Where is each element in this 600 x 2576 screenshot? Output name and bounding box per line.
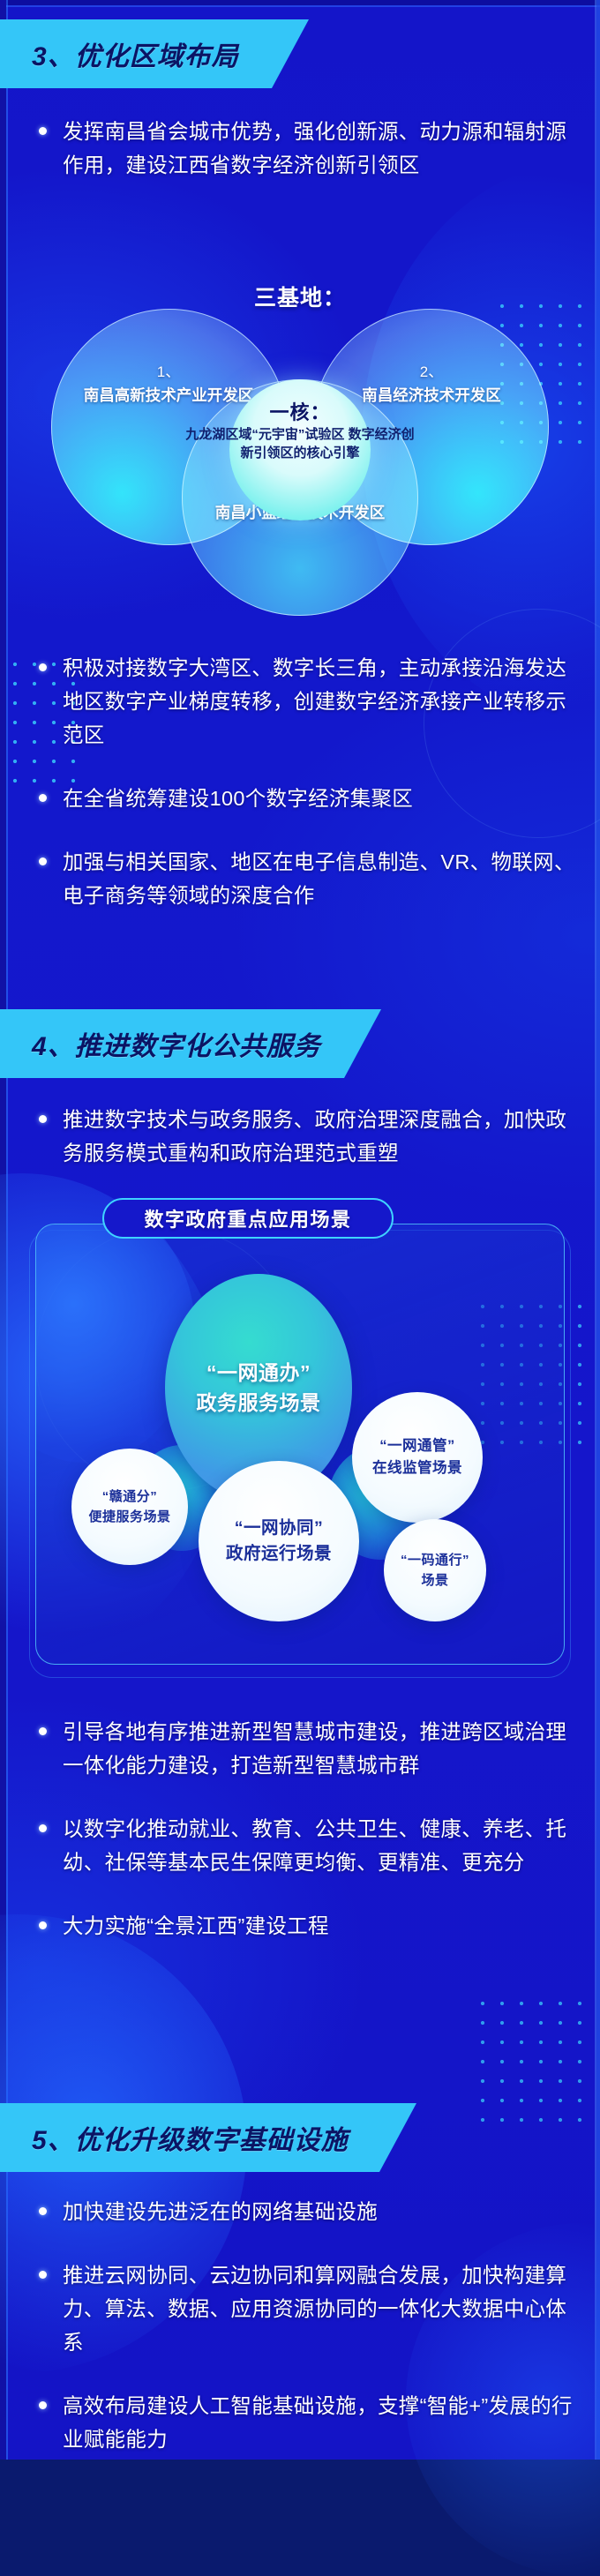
bullet-text: 推进云网协同、云边协同和算网融合发展，加快构建算力、算法、数据、应用资源协同的一… [63,2258,577,2359]
bullet-text: 发挥南昌省会城市优势，强化创新源、动力源和辐射源作用，建设江西省数字经济创新引领… [63,115,577,182]
bubble-mid-line2: 政府运行场景 [226,1544,332,1563]
bullet-text: 积极对接数字大湾区、数字长三角，主动承接沿海发达地区数字产业梯度转移，创建数字经… [63,651,577,752]
bubble-main-line1: “一网通办” [206,1361,311,1384]
bullet-dot-icon [39,2271,47,2279]
section-5-banner-label: 5、优化升级数字基础设施 [0,2118,349,2157]
section-4-bullets-before: 推进数字技术与政务服务、政府治理深度融合，加快政务服务模式重构和政府治理范式重塑 [23,1103,577,1193]
section-3-banner-label: 3、优化区域布局 [0,34,239,73]
bullet-dot-icon [39,1727,47,1735]
venn-diagram-three-bases: 三基地： 1、 南昌高新技术产业开发区 2、 南昌经济技术开发区 3、 南昌小蓝… [21,265,579,618]
bullet-text: 大力实施“全景江西”建设工程 [63,1909,329,1943]
bullet-text: 加强与相关国家、地区在电子信息制造、VR、物联网、电子商务等领域的深度合作 [63,845,577,912]
bubble-one-network-supervision: “一网通管” 在线监管场景 [352,1392,483,1523]
digital-government-scenarios-diagram: “一网通办” 政务服务场景 “一网通管” 在线监管场景 “赣通分” 便捷服务场景 [35,1224,565,1665]
list-item: 积极对接数字大湾区、数字长三角，主动承接沿海发达地区数字产业梯度转移，创建数字经… [23,651,577,752]
section-3-bullets-before: 发挥南昌省会城市优势，强化创新源、动力源和辐射源作用，建设江西省数字经济创新引领… [23,115,577,205]
section-4-banner-label: 4、推进数字化公共服务 [0,1024,321,1063]
list-item: 加强与相关国家、地区在电子信息制造、VR、物联网、电子商务等领域的深度合作 [23,845,577,912]
list-item: 发挥南昌省会城市优势，强化创新源、动力源和辐射源作用，建设江西省数字经济创新引领… [23,115,577,182]
venn-label-2-number: 2、 [330,362,533,383]
section-4-bullets-after: 引导各地有序推进新型智慧城市建设，推进跨区域治理一体化能力建设，打造新型智慧城市… [23,1715,577,1966]
bubble-mid-line1: “一网协同” [235,1518,324,1538]
bubble-one-code-pass: “一码通行” 场景 [384,1519,486,1621]
list-item: 在全省统筹建设100个数字经济集聚区 [23,782,577,815]
venn-title: 三基地： [21,281,579,312]
section-4-banner: 4、推进数字化公共服务 [0,1009,381,1078]
bullet-dot-icon [39,127,47,135]
list-item: 加快建设先进泛在的网络基础设施 [23,2195,577,2228]
list-item: 以数字化推动就业、教育、公共卫生、健康、养老、托幼、社保等基本民生保障更均衡、更… [23,1812,577,1879]
bubble-left-line2: 便捷服务场景 [88,1509,170,1524]
bullet-dot-icon [39,857,47,865]
bullet-dot-icon [39,2207,47,2215]
bubble-gantongfen-service: “赣通分” 便捷服务场景 [71,1449,188,1565]
venn-label-1-text: 南昌高新技术产业开发区 [84,386,254,404]
bullet-text: 高效布局建设人工智能基础设施，支撑“智能+”发展的行业赋能能力 [63,2389,577,2456]
bubble-br-line2: 场景 [421,1573,448,1588]
scene-title-pill: 数字政府重点应用场景 [102,1198,394,1239]
infographic-page: 3、优化区域布局 发挥南昌省会城市优势，强化创新源、动力源和辐射源作用，建设江西… [0,0,600,2460]
bubble-left-label: “赣通分” 便捷服务场景 [88,1486,170,1527]
bullet-dot-icon [39,1824,47,1832]
venn-label-2-text: 南昌经济技术开发区 [362,386,501,404]
bullet-dot-icon [39,794,47,802]
bullet-dot-icon [39,2401,47,2409]
left-accent-line [6,0,8,2460]
bubble-tr-line1: “一网通管” [379,1438,455,1454]
bullet-text: 推进数字技术与政务服务、政府治理深度融合，加快政务服务模式重构和政府治理范式重塑 [63,1103,577,1170]
dot-pattern-right-lower [473,1994,596,2126]
bullet-text: 引导各地有序推进新型智慧城市建设，推进跨区域治理一体化能力建设，打造新型智慧城市… [63,1715,577,1782]
section-3-bullets-after: 积极对接数字大湾区、数字长三角，主动承接沿海发达地区数字产业梯度转移，创建数字经… [23,651,577,935]
scene-title-label: 数字政府重点应用场景 [144,1204,351,1232]
bullet-text: 加快建设先进泛在的网络基础设施 [63,2195,378,2228]
bullet-text: 以数字化推动就业、教育、公共卫生、健康、养老、托幼、社保等基本民生保障更均衡、更… [63,1812,577,1879]
list-item: 引导各地有序推进新型智慧城市建设，推进跨区域治理一体化能力建设，打造新型智慧城市… [23,1715,577,1782]
left-border [0,0,6,2460]
section-5-banner: 5、优化升级数字基础设施 [0,2103,416,2172]
venn-label-1-number: 1、 [67,362,270,383]
bubble-tr-label: “一网通管” 在线监管场景 [372,1435,462,1479]
venn-core-heading: 一核： [229,397,371,425]
bubble-left-line1: “赣通分” [102,1489,158,1504]
bubble-mid-label: “一网协同” 政府运行场景 [226,1516,332,1567]
list-item: 推进云网协同、云边协同和算网融合发展，加快构建算力、算法、数据、应用资源协同的一… [23,2258,577,2359]
bubble-main-line2: 政务服务场景 [197,1391,321,1414]
bullet-dot-icon [39,663,47,671]
bubble-one-network-collaboration: “一网协同” 政府运行场景 [199,1461,359,1621]
list-item: 大力实施“全景江西”建设工程 [23,1909,577,1943]
section-3-banner: 3、优化区域布局 [0,19,309,88]
top-accent-line [0,5,600,7]
list-item: 高效布局建设人工智能基础设施，支撑“智能+”发展的行业赋能能力 [23,2389,577,2456]
bubble-tr-line2: 在线监管场景 [372,1460,462,1476]
bullet-text: 在全省统筹建设100个数字经济集聚区 [63,782,413,815]
bullet-dot-icon [39,1115,47,1123]
bubble-main-label: “一网通办” 政务服务场景 [197,1358,321,1418]
right-border [596,0,600,2460]
bubble-br-line1: “一码通行” [401,1553,469,1568]
list-item: 推进数字技术与政务服务、政府治理深度融合，加快政务服务模式重构和政府治理范式重塑 [23,1103,577,1170]
section-5-bullets: 加快建设先进泛在的网络基础设施 推进云网协同、云边协同和算网融合发展，加快构建算… [23,2195,577,2479]
bullet-dot-icon [39,1921,47,1929]
bubble-br-label: “一码通行” 场景 [401,1550,469,1591]
venn-core-body: 九龙湖区域“元宇宙”试验区 数字经济创新引领区的核心引擎 [182,425,418,462]
